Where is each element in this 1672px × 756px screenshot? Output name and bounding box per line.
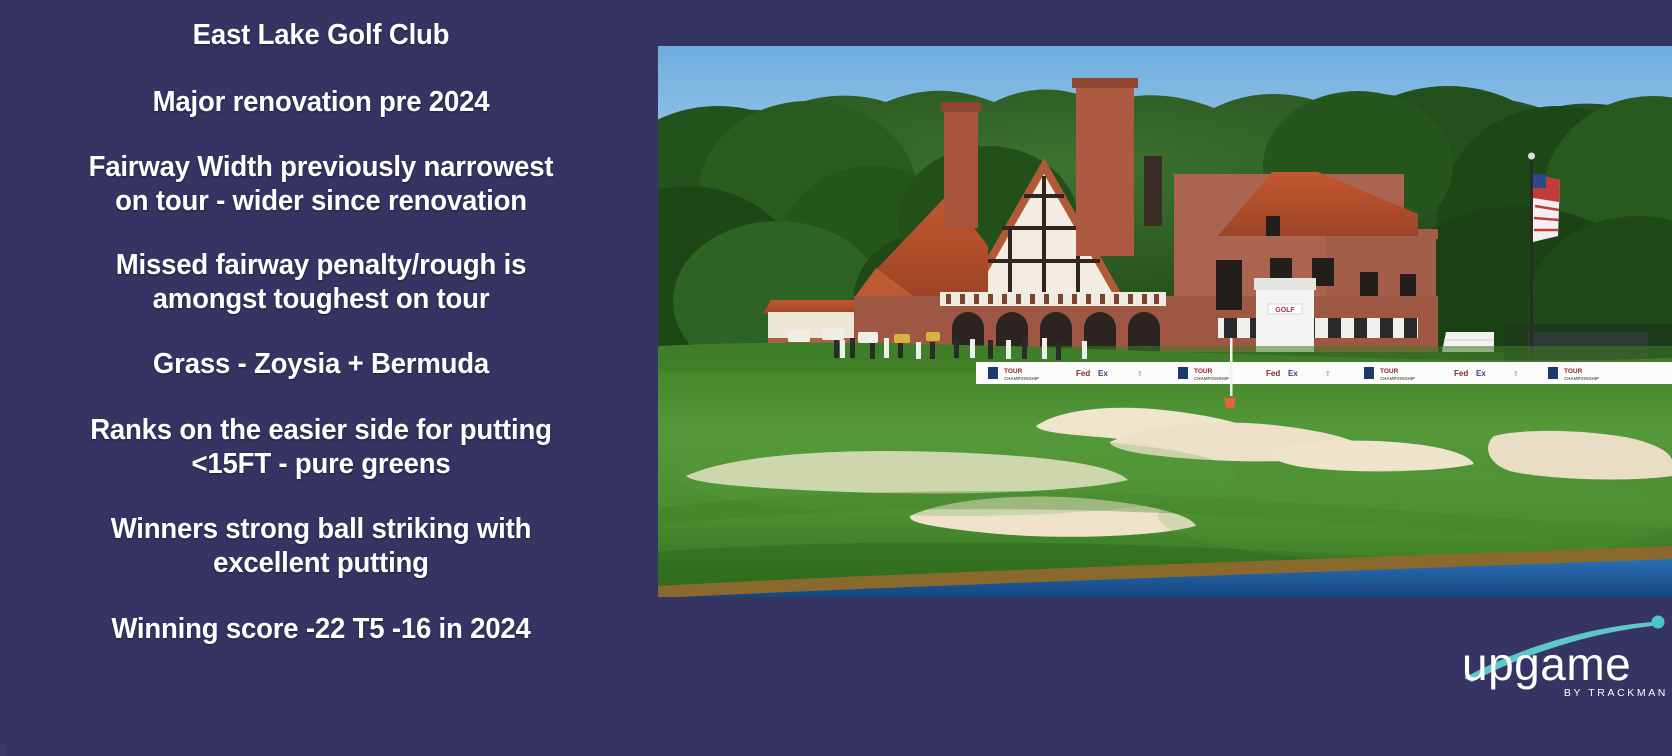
bullet-winner-profile: Winners strong ball striking with excell… [36, 512, 606, 580]
course-notes-list: East Lake Golf Club Major renovation pre… [0, 0, 642, 756]
bullet-renovation: Major renovation pre 2024 [36, 85, 606, 119]
svg-text:Fed: Fed [1076, 369, 1090, 378]
course-photo-artwork: GOLF [658, 46, 1672, 597]
logo-tagline: BY TRACKMAN [1564, 687, 1668, 699]
logo-wordmark: upgame [1462, 638, 1631, 690]
svg-text:CHAMPIONSHIP: CHAMPIONSHIP [1564, 376, 1599, 381]
svg-text:T: T [1138, 372, 1142, 378]
bullet-missed-fairway: Missed fairway penalty/rough is amongst … [36, 248, 606, 316]
svg-text:T: T [1326, 372, 1330, 378]
upgame-logo-artwork: upgame BY TRACKMAN [1440, 608, 1672, 700]
awning [1218, 318, 1418, 338]
svg-text:GOLF: GOLF [1275, 307, 1295, 314]
svg-text:CHAMPIONSHIP: CHAMPIONSHIP [1004, 376, 1039, 381]
svg-text:Ex: Ex [1476, 369, 1486, 378]
bullet-winning-score: Winning score -22 T5 -16 in 2024 [36, 612, 606, 646]
bullet-course-name: East Lake Golf Club [36, 18, 606, 52]
svg-text:TOUR: TOUR [1380, 368, 1399, 375]
svg-text:Ex: Ex [1098, 369, 1108, 378]
bullet-fairway-width: Fairway Width previously narrowest on to… [36, 150, 606, 218]
bullet-grass: Grass - Zoysia + Bermuda [36, 347, 606, 381]
svg-text:CHAMPIONSHIP: CHAMPIONSHIP [1194, 376, 1229, 381]
corner-artifact [0, 744, 6, 756]
course-photo: GOLF [658, 46, 1672, 597]
svg-text:CHAMPIONSHIP: CHAMPIONSHIP [1380, 376, 1415, 381]
svg-text:Fed: Fed [1454, 369, 1468, 378]
svg-text:T: T [1514, 372, 1518, 378]
upgame-logo: upgame BY TRACKMAN [1440, 608, 1672, 700]
swoosh-dot-icon [1652, 616, 1665, 629]
svg-text:TOUR: TOUR [1564, 368, 1583, 375]
svg-text:TOUR: TOUR [1004, 368, 1023, 375]
svg-text:Ex: Ex [1288, 369, 1298, 378]
slide-root: East Lake Golf Club Major renovation pre… [0, 0, 1672, 756]
svg-text:TOUR: TOUR [1194, 368, 1213, 375]
bullet-putting: Ranks on the easier side for putting <15… [36, 413, 606, 481]
tour-championship-signage: TOUR CHAMPIONSHIP Fed Ex T TOUR CHAMPION… [976, 362, 1672, 384]
svg-text:Fed: Fed [1266, 369, 1280, 378]
